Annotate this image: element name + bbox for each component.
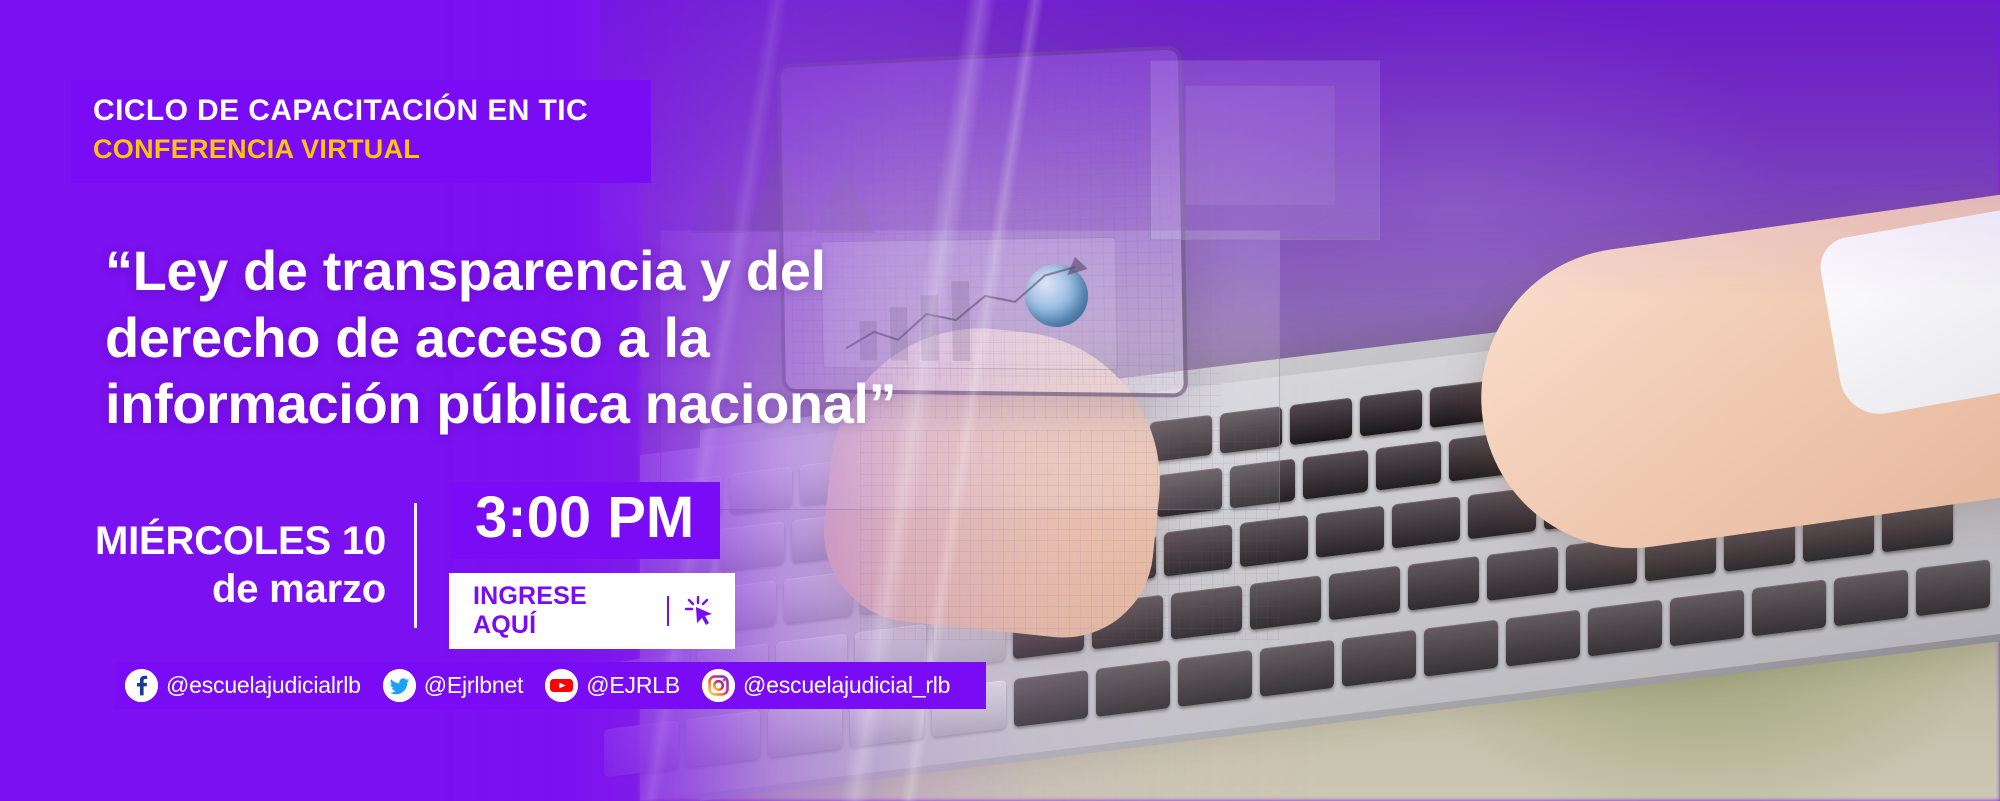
event-date: MIÉRCOLES 10 de marzo <box>95 517 414 615</box>
date-time-block: MIÉRCOLES 10 de marzo 3:00 PM INGRESE AQ… <box>95 482 735 649</box>
button-separator <box>667 596 669 626</box>
header-badge: CICLO DE CAPACITACIÓN EN TIC CONFERENCIA… <box>71 80 651 183</box>
social-item-twitter[interactable]: @Ejrlbnet <box>383 669 546 702</box>
twitter-handle: @Ejrlbnet <box>424 672 524 699</box>
event-type-label: CONFERENCIA VIRTUAL <box>93 133 623 165</box>
facebook-icon <box>125 669 158 702</box>
youtube-icon <box>545 669 578 702</box>
click-cursor-icon <box>683 594 717 628</box>
social-bar: @escuelajudicialrlb @Ejrlbnet <box>115 662 986 709</box>
enter-here-button[interactable]: INGRESE AQUÍ <box>449 573 735 649</box>
social-item-facebook[interactable]: @escuelajudicialrlb <box>125 669 383 702</box>
social-item-youtube[interactable]: @EJRLB <box>545 669 702 702</box>
program-title: CICLO DE CAPACITACIÓN EN TIC <box>93 94 623 129</box>
page-title: “Ley de transparencia y del derecho de a… <box>105 238 896 438</box>
instagram-icon <box>702 669 735 702</box>
event-date-line-1: MIÉRCOLES 10 <box>95 517 386 566</box>
instagram-handle: @escuelajudicial_rlb <box>743 672 950 699</box>
facebook-handle: @escuelajudicialrlb <box>166 672 361 699</box>
title-line-3: información pública nacional” <box>105 371 896 438</box>
social-item-instagram[interactable]: @escuelajudicial_rlb <box>702 669 972 702</box>
enter-here-label: INGRESE AQUÍ <box>473 582 653 640</box>
title-line-1: “Ley de transparencia y del <box>105 238 896 305</box>
youtube-handle: @EJRLB <box>586 672 680 699</box>
twitter-icon <box>383 669 416 702</box>
title-line-2: derecho de acceso a la <box>105 305 896 372</box>
banner-content: CICLO DE CAPACITACIÓN EN TIC CONFERENCIA… <box>0 0 2000 801</box>
event-time-badge: 3:00 PM <box>449 482 720 559</box>
promo-banner: /*keys injected below*/ <box>0 0 2000 801</box>
event-date-line-2: de marzo <box>95 565 386 614</box>
time-and-cta: 3:00 PM INGRESE AQUÍ <box>417 482 735 649</box>
